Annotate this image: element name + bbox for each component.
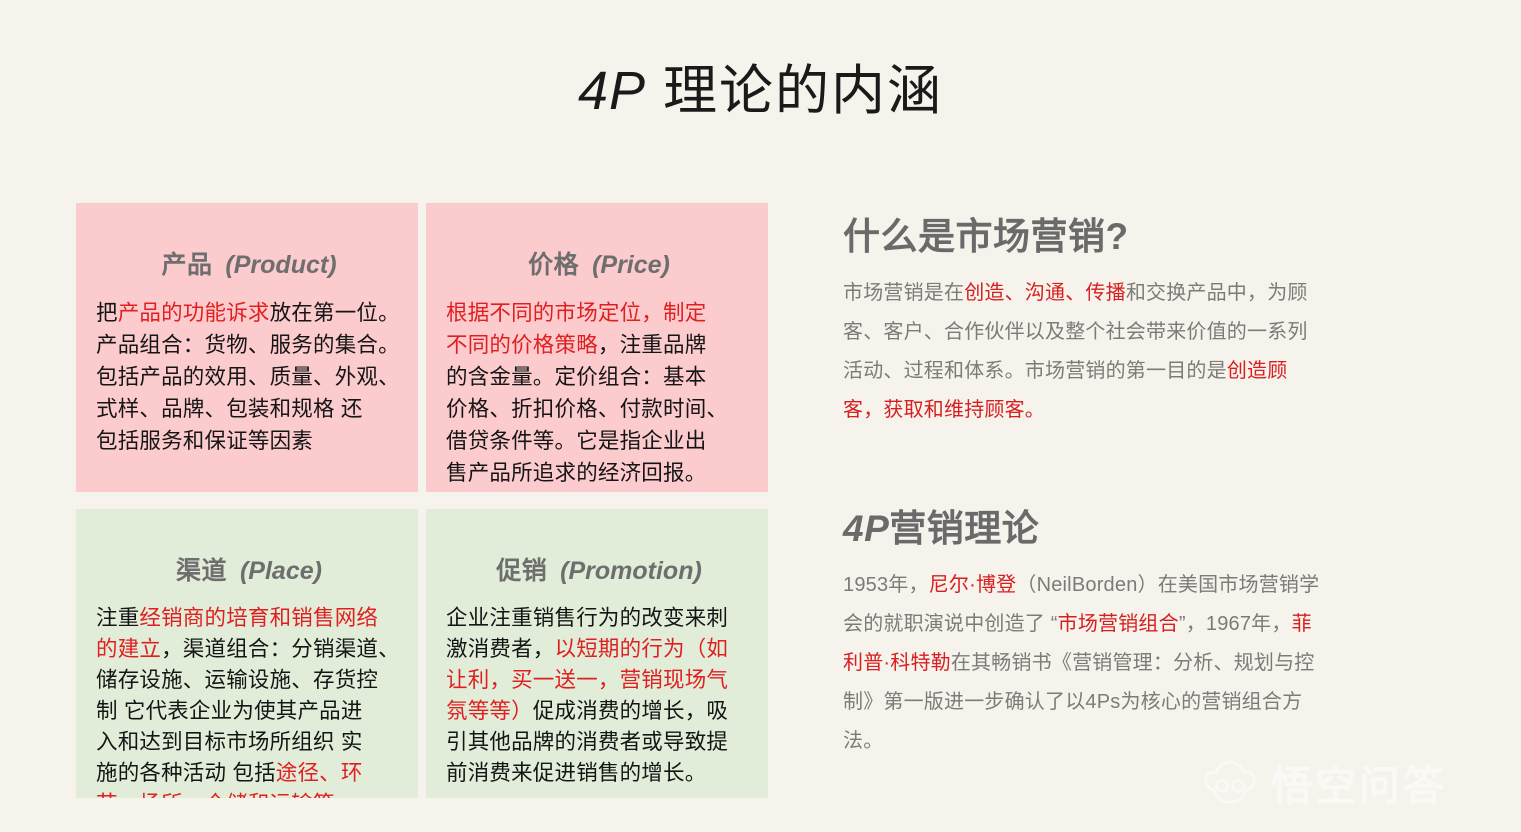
section-body-what-is-marketing: 市场营销是在创造、沟通、传播和交换产品中，为顾客、客户、合作伙伴以及整个社会带来… xyxy=(843,274,1323,430)
body-text: 的含金量。定价组合：基本 xyxy=(446,365,706,389)
section-title-cn: 营销理论 xyxy=(889,508,1039,549)
highlighted-text: 的建立 xyxy=(96,637,161,661)
body-text: ，注重品牌 xyxy=(598,333,707,357)
card-place: 渠道 (Place)注重经销商的培育和销售网络的建立，渠道组合：分销渠道、储存设… xyxy=(76,509,418,798)
card-title-cn: 产品 xyxy=(161,251,212,279)
highlighted-text: 以短期的行为（如 xyxy=(555,637,729,661)
card-product: 产品 (Product)把产品的功能诉求放在第一位。产品组合：货物、服务的集合。… xyxy=(76,203,418,492)
body-text: ”，1967年， xyxy=(1179,613,1292,635)
section-body-4p-marketing-theory: 1953年，尼尔·博登（NeilBorden）在美国市场营销学会的就职演说中创造… xyxy=(843,566,1323,761)
card-title-latin: (Promotion) xyxy=(560,557,702,585)
card-body-line: 的建立，渠道组合：分销渠道、 xyxy=(96,634,402,665)
card-body-line: 激消费者，以短期的行为（如 xyxy=(446,634,752,665)
watermark-text: 悟空问答 xyxy=(1271,752,1447,812)
body-text: 借贷条件等。它是指企业出 xyxy=(446,429,706,453)
body-text: 施的各种活动 包括 xyxy=(96,761,276,785)
body-text: 放在第一位。 xyxy=(270,301,400,325)
highlighted-text: 根据不同的市场定位，制定 xyxy=(446,301,706,325)
body-text: ，渠道组合：分销渠道、 xyxy=(161,637,400,661)
card-body-line: 式样、品牌、包装和规格 还 xyxy=(96,393,402,425)
highlighted-text: 市场营销组合 xyxy=(1058,613,1179,635)
card-body-line: 把产品的功能诉求放在第一位。 xyxy=(96,297,402,329)
card-body-line: 售产品所追求的经济回报。 xyxy=(446,457,752,489)
card-title-product: 产品 (Product) xyxy=(96,245,402,281)
body-text: 1953年， xyxy=(843,574,929,596)
four-p-card-grid: 产品 (Product)把产品的功能诉求放在第一位。产品组合：货物、服务的集合。… xyxy=(76,203,768,798)
card-body-product: 把产品的功能诉求放在第一位。产品组合：货物、服务的集合。包括产品的效用、质量、外… xyxy=(96,297,402,457)
page-title: 4P 理论的内涵 xyxy=(0,46,1521,125)
page-title-latin: 4P xyxy=(578,61,646,121)
slide-root: 4P 理论的内涵 产品 (Product)把产品的功能诉求放在第一位。产品组合：… xyxy=(0,0,1521,832)
card-body-line: 氛等等）促成消费的增长，吸 xyxy=(446,696,752,727)
card-body-place: 注重经销商的培育和销售网络的建立，渠道组合：分销渠道、储存设施、运输设施、存货控… xyxy=(96,603,402,798)
card-title-latin: (Place) xyxy=(240,557,322,585)
page-title-cn: 理论的内涵 xyxy=(663,61,943,121)
body-text: 制 它代表企业为使其产品进 xyxy=(96,699,363,723)
body-text: 式样、品牌、包装和规格 还 xyxy=(96,397,363,421)
card-body-line: 制 它代表企业为使其产品进 xyxy=(96,696,402,727)
card-title-place: 渠道 (Place) xyxy=(96,551,402,587)
section-title-cn: 什么是市场营销? xyxy=(843,216,1129,257)
highlighted-text: 氛等等） xyxy=(446,699,533,723)
card-title-latin: (Price) xyxy=(592,251,670,279)
body-text: 入和达到目标市场所组织 实 xyxy=(96,730,363,754)
highlighted-text: 创造、沟通、传播 xyxy=(964,282,1126,304)
card-promotion: 促销 (Promotion)企业注重销售行为的改变来刺激消费者，以短期的行为（如… xyxy=(426,509,768,798)
body-text: 激消费者， xyxy=(446,637,555,661)
body-text: 市场营销是在 xyxy=(843,282,964,304)
card-title-cn: 渠道 xyxy=(176,557,227,585)
body-text: 前消费来促进销售的增长。 xyxy=(446,761,706,785)
watermark: 悟空问答 xyxy=(1203,752,1447,812)
body-text: 。 xyxy=(335,792,357,798)
section-title-what-is-marketing: 什么是市场营销? xyxy=(843,206,1323,260)
body-text: 包括服务和保证等因素 xyxy=(96,429,313,453)
card-price: 价格 (Price)根据不同的市场定位，制定不同的价格策略，注重品牌的含金量。定… xyxy=(426,203,768,492)
card-title-cn: 促销 xyxy=(496,557,547,585)
card-body-line: 让利，买一送一，营销现场气 xyxy=(446,665,752,696)
card-body-line: 施的各种活动 包括途径、环 xyxy=(96,758,402,789)
card-body-line: 前消费来促进销售的增长。 xyxy=(446,758,752,789)
wukong-monkey-logo-icon xyxy=(1203,760,1257,804)
card-body-line: 注重经销商的培育和销售网络 xyxy=(96,603,402,634)
body-text: 促成消费的增长，吸 xyxy=(533,699,728,723)
body-text: 引其他品牌的消费者或导致提 xyxy=(446,730,728,754)
card-body-line: 不同的价格策略，注重品牌 xyxy=(446,329,752,361)
card-title-promotion: 促销 (Promotion) xyxy=(446,551,752,587)
card-body-line: 企业注重销售行为的改变来刺 xyxy=(446,603,752,634)
card-body-line: 包括服务和保证等因素 xyxy=(96,425,402,457)
body-text: 储存设施、运输设施、存货控 xyxy=(96,668,378,692)
card-body-price: 根据不同的市场定位，制定不同的价格策略，注重品牌的含金量。定价组合：基本价格、折… xyxy=(446,297,752,489)
card-title-latin: (Product) xyxy=(225,251,336,279)
highlighted-text: 经销商的培育和销售网络 xyxy=(139,606,378,630)
highlighted-text: 产品的功能诉求 xyxy=(118,301,270,325)
section-what-is-marketing: 什么是市场营销?市场营销是在创造、沟通、传播和交换产品中，为顾客、客户、合作伙伴… xyxy=(843,206,1323,430)
highlighted-text: 途径、环 xyxy=(276,761,363,785)
body-text: 注重 xyxy=(96,606,139,630)
right-column: 什么是市场营销?市场营销是在创造、沟通、传播和交换产品中，为顾客、客户、合作伙伴… xyxy=(843,206,1323,761)
highlighted-text: 尼尔·博登 xyxy=(929,574,1017,596)
highlighted-text: 不同的价格策略 xyxy=(446,333,598,357)
card-body-line: 节、场所、仓储和运输等。 xyxy=(96,789,402,798)
body-text: 包括产品的效用、质量、外观、 xyxy=(96,365,400,389)
card-body-promotion: 企业注重销售行为的改变来刺激消费者，以短期的行为（如让利，买一送一，营销现场气氛… xyxy=(446,603,752,789)
card-title-price: 价格 (Price) xyxy=(446,245,752,281)
card-body-line: 根据不同的市场定位，制定 xyxy=(446,297,752,329)
card-body-line: 产品组合：货物、服务的集合。 xyxy=(96,329,402,361)
body-text: 把 xyxy=(96,301,118,325)
section-4p-marketing-theory: 4P营销理论1953年，尼尔·博登（NeilBorden）在美国市场营销学会的就… xyxy=(843,498,1323,761)
highlighted-text: 让利，买一送一，营销现场气 xyxy=(446,668,728,692)
card-body-line: 借贷条件等。它是指企业出 xyxy=(446,425,752,457)
card-body-line: 包括产品的效用、质量、外观、 xyxy=(96,361,402,393)
card-body-line: 引其他品牌的消费者或导致提 xyxy=(446,727,752,758)
body-text: 售产品所追求的经济回报。 xyxy=(446,461,706,485)
card-body-line: 价格、折扣价格、付款时间、 xyxy=(446,393,752,425)
section-title-latin: 4P xyxy=(843,508,889,549)
card-body-line: 的含金量。定价组合：基本 xyxy=(446,361,752,393)
body-text: 企业注重销售行为的改变来刺 xyxy=(446,606,728,630)
card-body-line: 储存设施、运输设施、存货控 xyxy=(96,665,402,696)
body-text: 价格、折扣价格、付款时间、 xyxy=(446,397,728,421)
body-text: 产品组合：货物、服务的集合。 xyxy=(96,333,400,357)
section-title-4p-marketing-theory: 4P营销理论 xyxy=(843,498,1323,552)
card-title-cn: 价格 xyxy=(528,251,579,279)
card-body-line: 入和达到目标市场所组织 实 xyxy=(96,727,402,758)
highlighted-text: 节、场所、仓储和运输等 xyxy=(96,792,335,798)
